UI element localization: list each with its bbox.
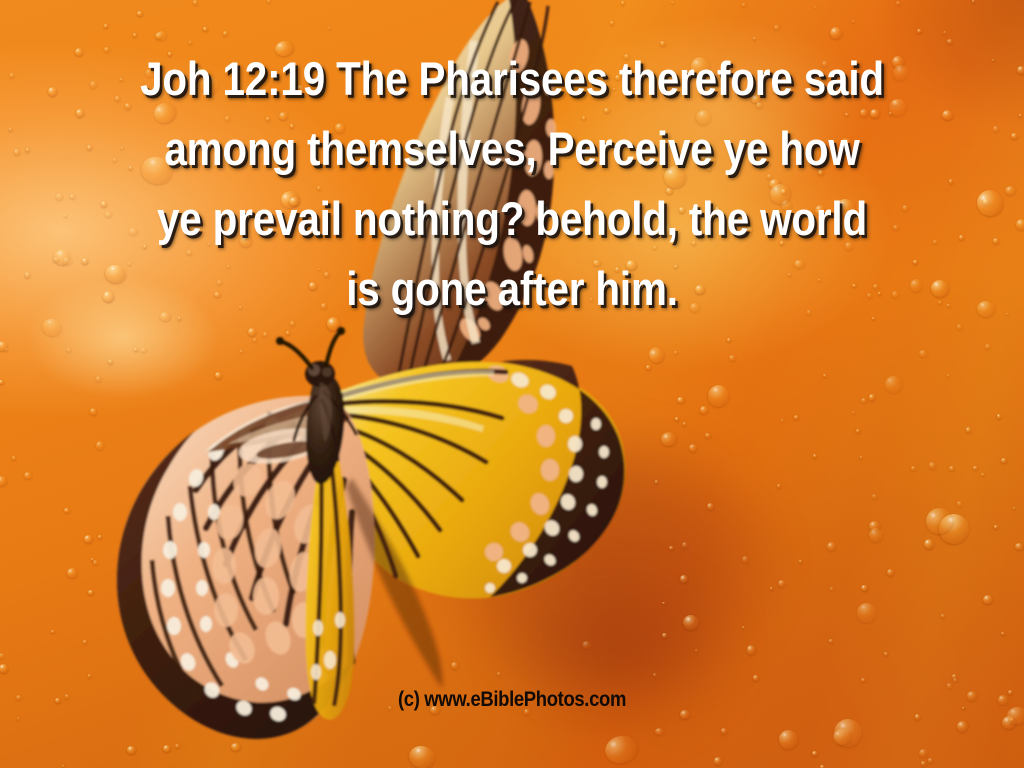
water-droplet <box>0 476 7 487</box>
water-droplet <box>919 350 928 357</box>
water-droplet <box>830 587 834 591</box>
water-droplet <box>799 560 802 563</box>
water-droplet <box>973 466 978 470</box>
water-droplet <box>727 338 731 342</box>
water-droplet <box>55 698 61 703</box>
water-droplet <box>175 744 180 749</box>
water-droplet <box>407 743 437 768</box>
water-droplet <box>141 348 146 352</box>
water-droplet <box>328 27 331 30</box>
water-droplet <box>223 31 228 36</box>
water-droplet <box>861 398 866 403</box>
water-droplet <box>51 630 55 634</box>
water-droplet <box>215 372 222 379</box>
water-droplet <box>861 585 867 591</box>
water-droplet <box>1006 313 1009 315</box>
water-droplet <box>983 595 992 605</box>
water-droplet <box>705 433 711 438</box>
water-droplet <box>911 466 916 471</box>
water-droplet <box>647 346 666 365</box>
water-droplet <box>794 415 800 420</box>
water-droplet <box>231 743 240 751</box>
water-droplet <box>40 317 65 339</box>
water-droplet <box>1001 632 1005 636</box>
water-droplet <box>10 73 14 77</box>
water-droplet <box>662 633 667 638</box>
water-droplet <box>947 39 953 44</box>
water-droplet <box>1008 690 1013 695</box>
water-droplet <box>966 427 972 433</box>
water-droplet <box>753 675 758 681</box>
water-droplet <box>127 746 136 755</box>
water-droplet <box>814 6 817 9</box>
water-droplet <box>5 348 8 351</box>
water-droplet <box>1013 507 1016 509</box>
water-droplet <box>286 331 290 335</box>
water-droplet <box>134 348 138 351</box>
water-droplet <box>827 542 836 552</box>
water-droplet <box>680 575 688 583</box>
water-droplet <box>962 707 965 710</box>
water-droplet <box>813 454 817 458</box>
water-droplet <box>662 602 665 605</box>
water-droplet <box>104 24 108 28</box>
water-droplet <box>248 328 256 336</box>
water-droplet <box>884 375 902 393</box>
water-droplet <box>994 525 998 529</box>
watermark-credit: (c) www.eBiblePhotos.com <box>61 688 962 712</box>
water-droplet <box>582 641 592 649</box>
water-droplet <box>88 590 94 595</box>
water-droplet <box>1016 219 1024 230</box>
water-droplet <box>263 332 268 337</box>
water-droplet <box>707 503 715 510</box>
water-droplet <box>17 717 20 720</box>
water-droplet <box>742 556 749 563</box>
water-droplet <box>860 456 863 459</box>
water-droplet <box>869 528 883 542</box>
bible-verse-text: Joh 12:19 The Pharisees therefore said a… <box>72 44 953 324</box>
water-droplet <box>706 383 731 409</box>
water-droplet <box>653 673 657 677</box>
water-droplet <box>67 348 70 352</box>
water-droplet <box>62 765 65 768</box>
water-droplet <box>770 587 773 590</box>
water-droplet <box>671 1 674 4</box>
water-droplet <box>163 745 171 752</box>
water-droplet <box>646 365 652 370</box>
water-droplet <box>993 238 999 244</box>
water-droplet <box>655 480 659 483</box>
water-droplet <box>830 27 841 39</box>
water-droplet <box>928 758 933 763</box>
water-droplet <box>93 560 98 566</box>
water-droplet <box>852 411 855 414</box>
water-droplet <box>957 501 962 506</box>
water-droplet <box>26 148 29 152</box>
water-droplet <box>729 355 736 362</box>
water-droplet <box>921 761 926 766</box>
water-droplet <box>610 21 614 24</box>
water-droplet <box>683 422 686 425</box>
water-droplet <box>1001 458 1007 464</box>
water-droplet <box>253 338 257 342</box>
photo-canvas: Joh 12:19 The Pharisees therefore said a… <box>0 0 1024 768</box>
water-droplet <box>1005 186 1017 196</box>
water-droplet <box>872 494 878 500</box>
water-droplet <box>976 300 995 317</box>
water-droplet <box>1002 716 1016 729</box>
water-droplet <box>896 1 901 6</box>
water-droplet <box>981 473 984 476</box>
water-droplet <box>669 546 674 550</box>
water-droplet <box>949 466 955 471</box>
water-droplet <box>0 380 4 384</box>
water-droplet <box>88 674 92 677</box>
water-droplet <box>677 397 685 404</box>
water-droplet <box>985 344 991 349</box>
water-droplet <box>929 462 936 469</box>
water-droplet <box>823 374 827 378</box>
water-droplet <box>998 695 1008 704</box>
water-droplet <box>992 59 995 61</box>
water-droplet <box>56 193 64 201</box>
water-droplet <box>774 25 780 30</box>
water-droplet <box>67 568 77 577</box>
water-droplet <box>1017 66 1024 74</box>
water-droplet <box>48 87 57 96</box>
water-droplet <box>133 33 138 37</box>
water-droplet <box>695 649 698 652</box>
water-droplet <box>267 0 271 3</box>
water-droplet <box>655 728 664 735</box>
water-droplet <box>1015 543 1024 550</box>
water-droplet <box>777 484 781 487</box>
water-droplet <box>974 187 1006 219</box>
water-droplet <box>12 456 16 460</box>
water-droplet <box>675 417 680 421</box>
water-droplet <box>779 729 799 749</box>
water-droplet <box>1011 133 1017 139</box>
water-droplet <box>852 20 856 23</box>
water-droplet <box>747 645 756 655</box>
water-droplet <box>90 408 97 415</box>
water-droplet <box>621 1 625 5</box>
water-droplet <box>941 614 944 617</box>
water-droplet <box>943 31 947 34</box>
water-droplet <box>917 29 922 34</box>
water-droplet <box>972 0 975 3</box>
water-droplet <box>9 128 12 131</box>
water-droplet <box>742 3 746 7</box>
water-droplet <box>887 569 894 576</box>
water-droplet <box>959 235 964 240</box>
water-droplet <box>919 749 929 757</box>
water-droplet <box>203 27 207 31</box>
water-droplet <box>602 733 640 767</box>
water-droplet <box>64 508 70 513</box>
water-droplet <box>952 674 957 679</box>
water-droplet <box>915 714 920 719</box>
water-droplet <box>108 359 113 363</box>
water-droplet <box>689 444 697 452</box>
water-droplet <box>947 374 950 377</box>
water-droplet <box>855 602 877 625</box>
water-droplet <box>155 33 161 39</box>
water-droplet <box>451 662 460 669</box>
water-droplet <box>83 640 87 644</box>
water-droplet <box>240 350 244 353</box>
water-droplet <box>957 721 968 732</box>
water-droplet <box>0 664 8 672</box>
water-droplet <box>25 272 30 278</box>
water-droplet <box>674 351 678 354</box>
water-droplet <box>997 414 1002 419</box>
water-droplet <box>924 539 934 549</box>
water-droplet <box>682 542 688 548</box>
water-droplet <box>884 652 888 657</box>
water-droplet <box>781 419 784 422</box>
water-droplet <box>812 751 818 756</box>
water-droplet <box>0 653 5 659</box>
water-droplet <box>14 149 20 155</box>
water-droplet <box>96 441 104 450</box>
water-droplet <box>193 0 198 5</box>
water-droplet <box>721 728 727 734</box>
water-droplet <box>683 615 699 630</box>
water-droplet <box>84 535 93 543</box>
water-droplet <box>869 394 875 400</box>
water-droplet <box>64 215 67 217</box>
water-droplet <box>829 639 834 643</box>
water-droplet <box>714 757 722 765</box>
water-droplet <box>98 535 102 538</box>
water-droplet <box>16 695 21 700</box>
water-droplet <box>967 691 977 701</box>
water-droplet <box>660 432 677 448</box>
water-droplet <box>1019 114 1022 117</box>
water-droplet <box>700 406 708 413</box>
water-droplet <box>856 429 860 433</box>
water-droplet <box>861 678 866 682</box>
water-droplet <box>96 376 101 381</box>
water-droplet <box>957 324 962 329</box>
water-droplet <box>497 672 502 676</box>
water-droplet <box>753 37 756 40</box>
water-droplet <box>24 472 32 479</box>
water-droplet <box>742 626 745 629</box>
water-droplet <box>778 580 785 587</box>
water-droplet <box>137 11 143 16</box>
water-droplet <box>993 126 999 132</box>
